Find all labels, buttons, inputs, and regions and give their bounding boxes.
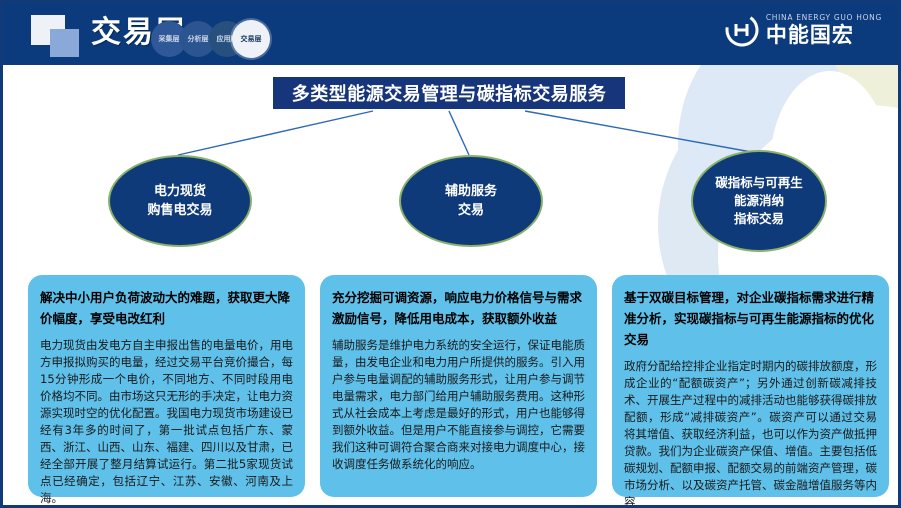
content-box-carbon-index: 基于双碳目标管理，对企业碳指标需求进行精准分析，实现碳指标与可再生能源指标的优化… [612,275,889,497]
tab-trading-layer[interactable]: 交易层 [232,20,270,58]
content-box-2-body: 辅助服务是维护电力系统的安全运行，保证电能质量，由发电企业和电力用户所提供的服务… [332,337,585,473]
content-box-2-heading: 充分挖掘可调资源，响应电力价格信号与需求激励信号，降低用电成本，获取额外收益 [332,287,585,329]
content-box-spot-power: 解决中小用户负荷波动大的难题，获取更大降价幅度，享受电改红利 电力现货由发电方自… [28,275,305,497]
content-box-1-heading: 解决中小用户负荷波动大的难题，获取更大降价幅度，享受电改红利 [40,287,293,329]
node-3-line-2: 能源消纳 [715,192,803,210]
node-2-line-2: 交易 [445,201,497,220]
tab-trading-layer-label: 交易层 [241,34,262,44]
banner-title-text: 多类型能源交易管理与碳指标交易服务 [292,80,607,106]
content-box-3-body: 政府分配给控排企业指定时期内的碳排放额度，形成企业的“配额碳资产”；另外通过创新… [624,358,877,508]
node-2-text: 辅助服务 交易 [445,182,497,220]
banner-title: 多类型能源交易管理与碳指标交易服务 [273,77,625,109]
node-2-line-1: 辅助服务 [445,182,497,201]
connector-to-node-3 [525,111,757,153]
node-1-line-1: 电力现货 [147,182,212,201]
node-ancillary-service-trading[interactable]: 辅助服务 交易 [399,155,543,247]
content-box-1-body: 电力现货由发电方自主申报出售的电量电价，用电方申报拟购买的电量，经过交易平台竞价… [40,337,293,507]
connector-to-node-1 [178,111,373,155]
content-box-ancillary-service: 充分挖掘可调资源，响应电力价格信号与需求激励信号，降低用电成本，获取额外收益 辅… [320,275,597,497]
content-box-3-heading: 基于双碳目标管理，对企业碳指标需求进行精准分析，实现碳指标与可再生能源指标的优化… [624,287,877,350]
node-spot-power-trading[interactable]: 电力现货 购售电交易 [108,155,252,247]
node-carbon-renewable-index-trading[interactable]: 碳指标与可再生 能源消纳 指标交易 [691,150,827,252]
node-1-text: 电力现货 购售电交易 [147,182,212,220]
node-3-text: 碳指标与可再生 能源消纳 指标交易 [715,174,803,228]
node-3-line-1: 碳指标与可再生 [715,174,803,192]
slide-root: 交易层 采集层 分析层 应用层 交易层 CHINA [0,0,901,508]
node-1-line-2: 购售电交易 [147,201,212,220]
node-3-line-3: 指标交易 [715,210,803,228]
connector-to-node-2 [449,111,469,155]
